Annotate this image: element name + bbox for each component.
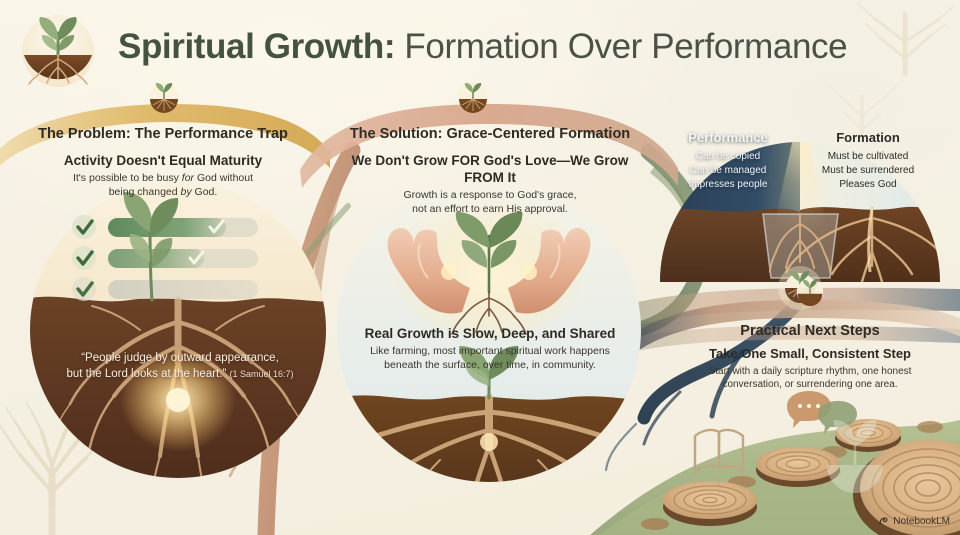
scripture-quote: “People judge by outward appearance, but…	[46, 350, 314, 382]
stepping-stone-log-icon	[756, 447, 840, 487]
page-title: Spiritual Growth: Formation Over Perform…	[118, 20, 878, 74]
formation-item: Must be cultivated	[806, 150, 930, 164]
problem-sub-2i: by	[181, 186, 192, 198]
banner-problem-label: The Problem: The Performance Trap	[18, 126, 308, 142]
stepping-stone-log-icon	[835, 419, 901, 452]
performance-item: Can be copied	[668, 150, 788, 164]
problem-sub-2b: God.	[192, 186, 218, 198]
notebooklm-watermark: NotebookLM	[878, 516, 950, 527]
open-book-icon	[695, 430, 743, 472]
solution-subtext: Growth is a response to God's grace, not…	[334, 189, 646, 216]
problem-sub-1a: It's possible to be busy	[73, 172, 182, 184]
next-steps-headline: Take One Small, Consistent Step	[672, 345, 948, 362]
performance-title: Performance	[668, 130, 788, 145]
solution-text-block: We Don't Grow FOR God's Love—We Grow FRO…	[334, 152, 646, 216]
performance-item: Can be managed	[668, 164, 788, 178]
speech-bubbles-icon	[787, 391, 857, 434]
problem-sub-1b: God without	[194, 172, 253, 184]
problem-text-block: Activity Doesn't Equal Maturity It's pos…	[48, 152, 278, 199]
solution-headline: We Don't Grow FOR God's Love—We Grow FRO…	[334, 152, 646, 186]
banner-next-steps-label: Practical Next Steps	[690, 323, 930, 339]
notebooklm-logo-icon	[878, 516, 889, 527]
problem-headline: Activity Doesn't Equal Maturity	[48, 152, 278, 169]
formation-item: Must be surrendered	[806, 164, 930, 178]
page-title-rest: Formation Over Performance	[395, 27, 847, 66]
real-growth-subtext: Like farming, most important spiritual w…	[336, 345, 644, 372]
real-growth-sub-line1: Like farming, most important spiritual w…	[370, 345, 610, 357]
problem-sub-2a: being changed	[109, 186, 181, 198]
next-steps-text-block: Take One Small, Consistent Step Start wi…	[672, 345, 948, 391]
seedling-watermark-icon	[827, 420, 883, 493]
real-growth-headline: Real Growth is Slow, Deep, and Shared	[336, 325, 644, 342]
performance-item: Impresses people	[668, 178, 788, 192]
real-growth-sub-line2: beneath the surface, over time, in commu…	[384, 359, 596, 371]
infographic-canvas: Spiritual Growth: Formation Over Perform…	[0, 0, 960, 535]
formation-column: Formation Must be cultivated Must be sur…	[806, 130, 930, 192]
solution-seedling-badge-icon	[456, 80, 490, 114]
solution-sub-line2: not an effort to earn His approval.	[412, 203, 568, 215]
next-steps-seedling-badge-icon	[795, 277, 825, 307]
banner-solution-label: The Solution: Grace-Centered Formation	[330, 126, 650, 142]
quote-reference: (1 Samuel 16:7)	[229, 369, 293, 379]
next-steps-sub-line1: Start with a daily scripture rhythm, one…	[709, 366, 912, 377]
problem-subtext: It's possible to be busy for God without…	[48, 172, 278, 199]
next-steps-subtext: Start with a daily scripture rhythm, one…	[672, 365, 948, 391]
performance-column: Performance Can be copied Can be managed…	[668, 130, 788, 192]
real-growth-text-block: Real Growth is Slow, Deep, and Shared Li…	[336, 325, 644, 372]
formation-title: Formation	[806, 130, 930, 145]
notebooklm-label: NotebookLM	[893, 516, 950, 527]
problem-sub-1i: for	[182, 172, 194, 184]
page-title-emphasis: Spiritual Growth:	[118, 27, 395, 66]
problem-seedling-badge-icon	[147, 80, 181, 114]
stepping-stone-log-icon	[663, 481, 757, 526]
next-steps-sub-line2: conversation, or surrendering one area.	[722, 379, 897, 390]
quote-line-2: but the Lord looks at the heart.”	[66, 368, 226, 380]
formation-item: Pleases God	[806, 178, 930, 192]
seedling-roots-badge-icon	[18, 11, 98, 91]
quote-line-1: “People judge by outward appearance,	[81, 352, 279, 364]
solution-sub-line1: Growth is a response to God's grace,	[403, 189, 576, 201]
